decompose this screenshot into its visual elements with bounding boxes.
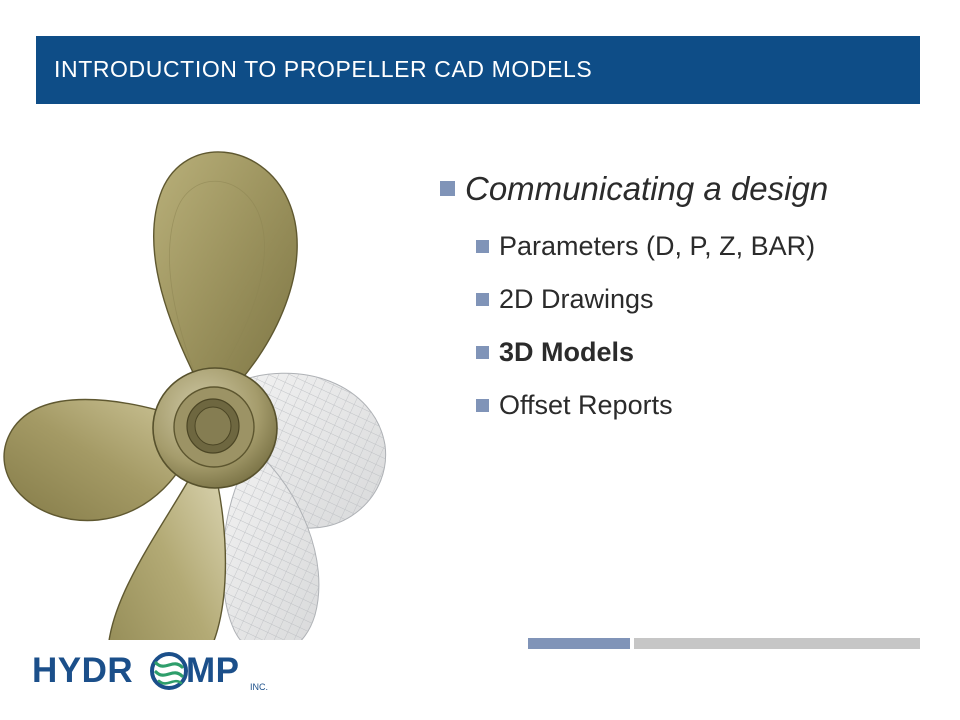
list-item: 3D Models — [476, 334, 940, 370]
solid-blade-top — [154, 152, 297, 402]
bullet-label: 3D Models — [499, 334, 634, 370]
bullet-square-icon — [476, 240, 489, 253]
bullet-label: 2D Drawings — [499, 281, 654, 317]
list-item: Parameters (D, P, Z, BAR) — [476, 228, 940, 264]
list-item: Offset Reports — [476, 387, 940, 423]
footer-accent-bar-left — [528, 638, 630, 649]
bullet-label: Offset Reports — [499, 387, 673, 423]
bullet-square-icon — [476, 399, 489, 412]
logo-text-omp: MP — [186, 651, 240, 690]
bullet-square-icon — [440, 181, 455, 196]
list-item: Communicating a design — [440, 168, 940, 210]
company-logo: HYDR MP INC. — [32, 648, 282, 694]
propeller-hub — [153, 368, 277, 488]
bullet-label: Parameters (D, P, Z, BAR) — [499, 228, 815, 264]
propeller-illustration — [0, 120, 430, 640]
bullet-label: Communicating a design — [465, 168, 828, 210]
list-item: 2D Drawings — [476, 281, 940, 317]
bullet-list: Communicating a design Parameters (D, P,… — [440, 168, 940, 429]
logo-text-hydro: HYDR — [32, 651, 133, 690]
bullet-square-icon — [476, 346, 489, 359]
page-title: INTRODUCTION TO PROPELLER CAD MODELS — [54, 56, 894, 83]
logo-suffix: INC. — [250, 682, 268, 692]
swirl-icon — [152, 654, 186, 688]
slide: INTRODUCTION TO PROPELLER CAD MODELS — [0, 0, 960, 720]
bullet-square-icon — [476, 293, 489, 306]
footer-accent-bar-right — [634, 638, 920, 649]
